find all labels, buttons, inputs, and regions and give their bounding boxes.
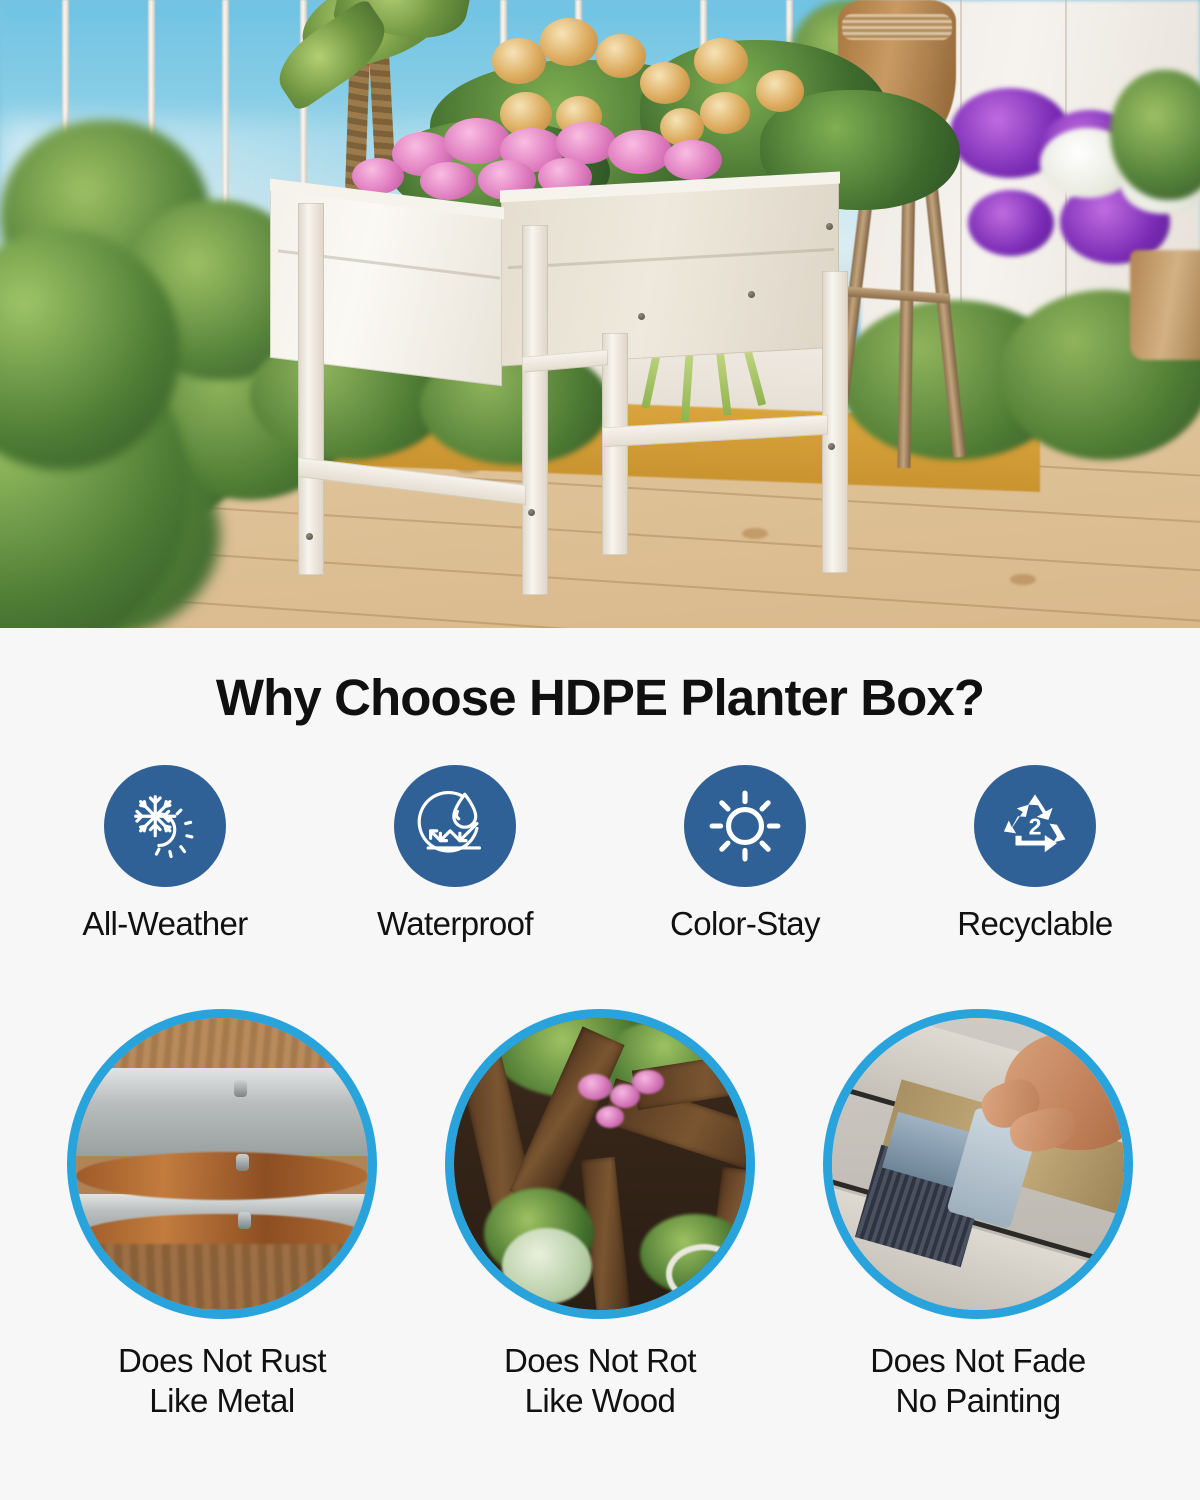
caption-line-2: Like Wood [504, 1381, 696, 1421]
sun-icon [706, 787, 784, 865]
planter-stretcher [602, 415, 828, 448]
urn-band [842, 14, 952, 40]
rusted-metal-photo [67, 1009, 377, 1319]
planter-side-panel [501, 176, 839, 367]
water-droplet-repel-icon [416, 787, 494, 865]
snowflake-sun-icon [126, 787, 204, 865]
waterproof-icon-badge [394, 765, 516, 887]
all-weather-icon-badge [104, 765, 226, 887]
recycle-triangle-icon: 2 [996, 787, 1074, 865]
comparison-caption: Does Not Fade No Painting [870, 1341, 1085, 1422]
tan-blossom [492, 38, 546, 84]
content-section: Why Choose HDPE Planter Box? [0, 628, 1200, 1500]
feature-item-recyclable: 2 Recyclable [910, 765, 1160, 943]
tan-blossom [540, 18, 598, 66]
feature-label: Waterproof [377, 905, 533, 943]
pink-blossom [664, 140, 722, 180]
pink-blossom [608, 130, 672, 174]
hdpe-planter-box [270, 175, 870, 595]
color-stay-icon-badge [684, 765, 806, 887]
tan-blossom [756, 70, 804, 112]
tan-blossom [694, 38, 748, 84]
planter-stretcher [298, 457, 526, 505]
tan-blossom [700, 92, 750, 134]
feature-item-all-weather: All-Weather [40, 765, 290, 943]
comparison-caption: Does Not Rot Like Wood [504, 1341, 696, 1422]
paintbrush-deck-photo [823, 1009, 1133, 1319]
comparison-item-fade: Does Not Fade No Painting [823, 1009, 1133, 1422]
caption-line-2: Like Metal [118, 1381, 326, 1421]
caption-line-1: Does Not Rust [118, 1341, 326, 1381]
purple-flower-cluster [968, 190, 1054, 256]
resin-code-number: 2 [1029, 814, 1042, 840]
caption-line-1: Does Not Fade [870, 1341, 1085, 1381]
comparison-item-rust: Does Not Rust Like Metal [67, 1009, 377, 1422]
wooden-pot [1130, 250, 1200, 360]
feature-label: Color-Stay [670, 905, 820, 943]
recyclable-icon-badge: 2 [974, 765, 1096, 887]
feature-item-color-stay: Color-Stay [620, 765, 870, 943]
caption-line-1: Does Not Rot [504, 1341, 696, 1381]
tan-blossom [640, 62, 690, 104]
feature-label: Recyclable [957, 905, 1112, 943]
feature-item-waterproof: Waterproof [330, 765, 580, 943]
comparison-item-rot: Does Not Rot Like Wood [445, 1009, 755, 1422]
planter-leg [522, 225, 548, 595]
planter-leg [298, 203, 324, 575]
rotting-wood-photo [445, 1009, 755, 1319]
comparison-list: Does Not Rust Like Metal [0, 1009, 1200, 1422]
hero-product-photo [0, 0, 1200, 628]
feature-list: All-Weather Waterproof [0, 765, 1200, 943]
pink-blossom [444, 118, 510, 164]
caption-line-2: No Painting [870, 1381, 1085, 1421]
feature-label: All-Weather [82, 905, 247, 943]
page-title: Why Choose HDPE Planter Box? [0, 668, 1200, 727]
comparison-caption: Does Not Rust Like Metal [118, 1341, 326, 1422]
tan-blossom [596, 34, 646, 78]
